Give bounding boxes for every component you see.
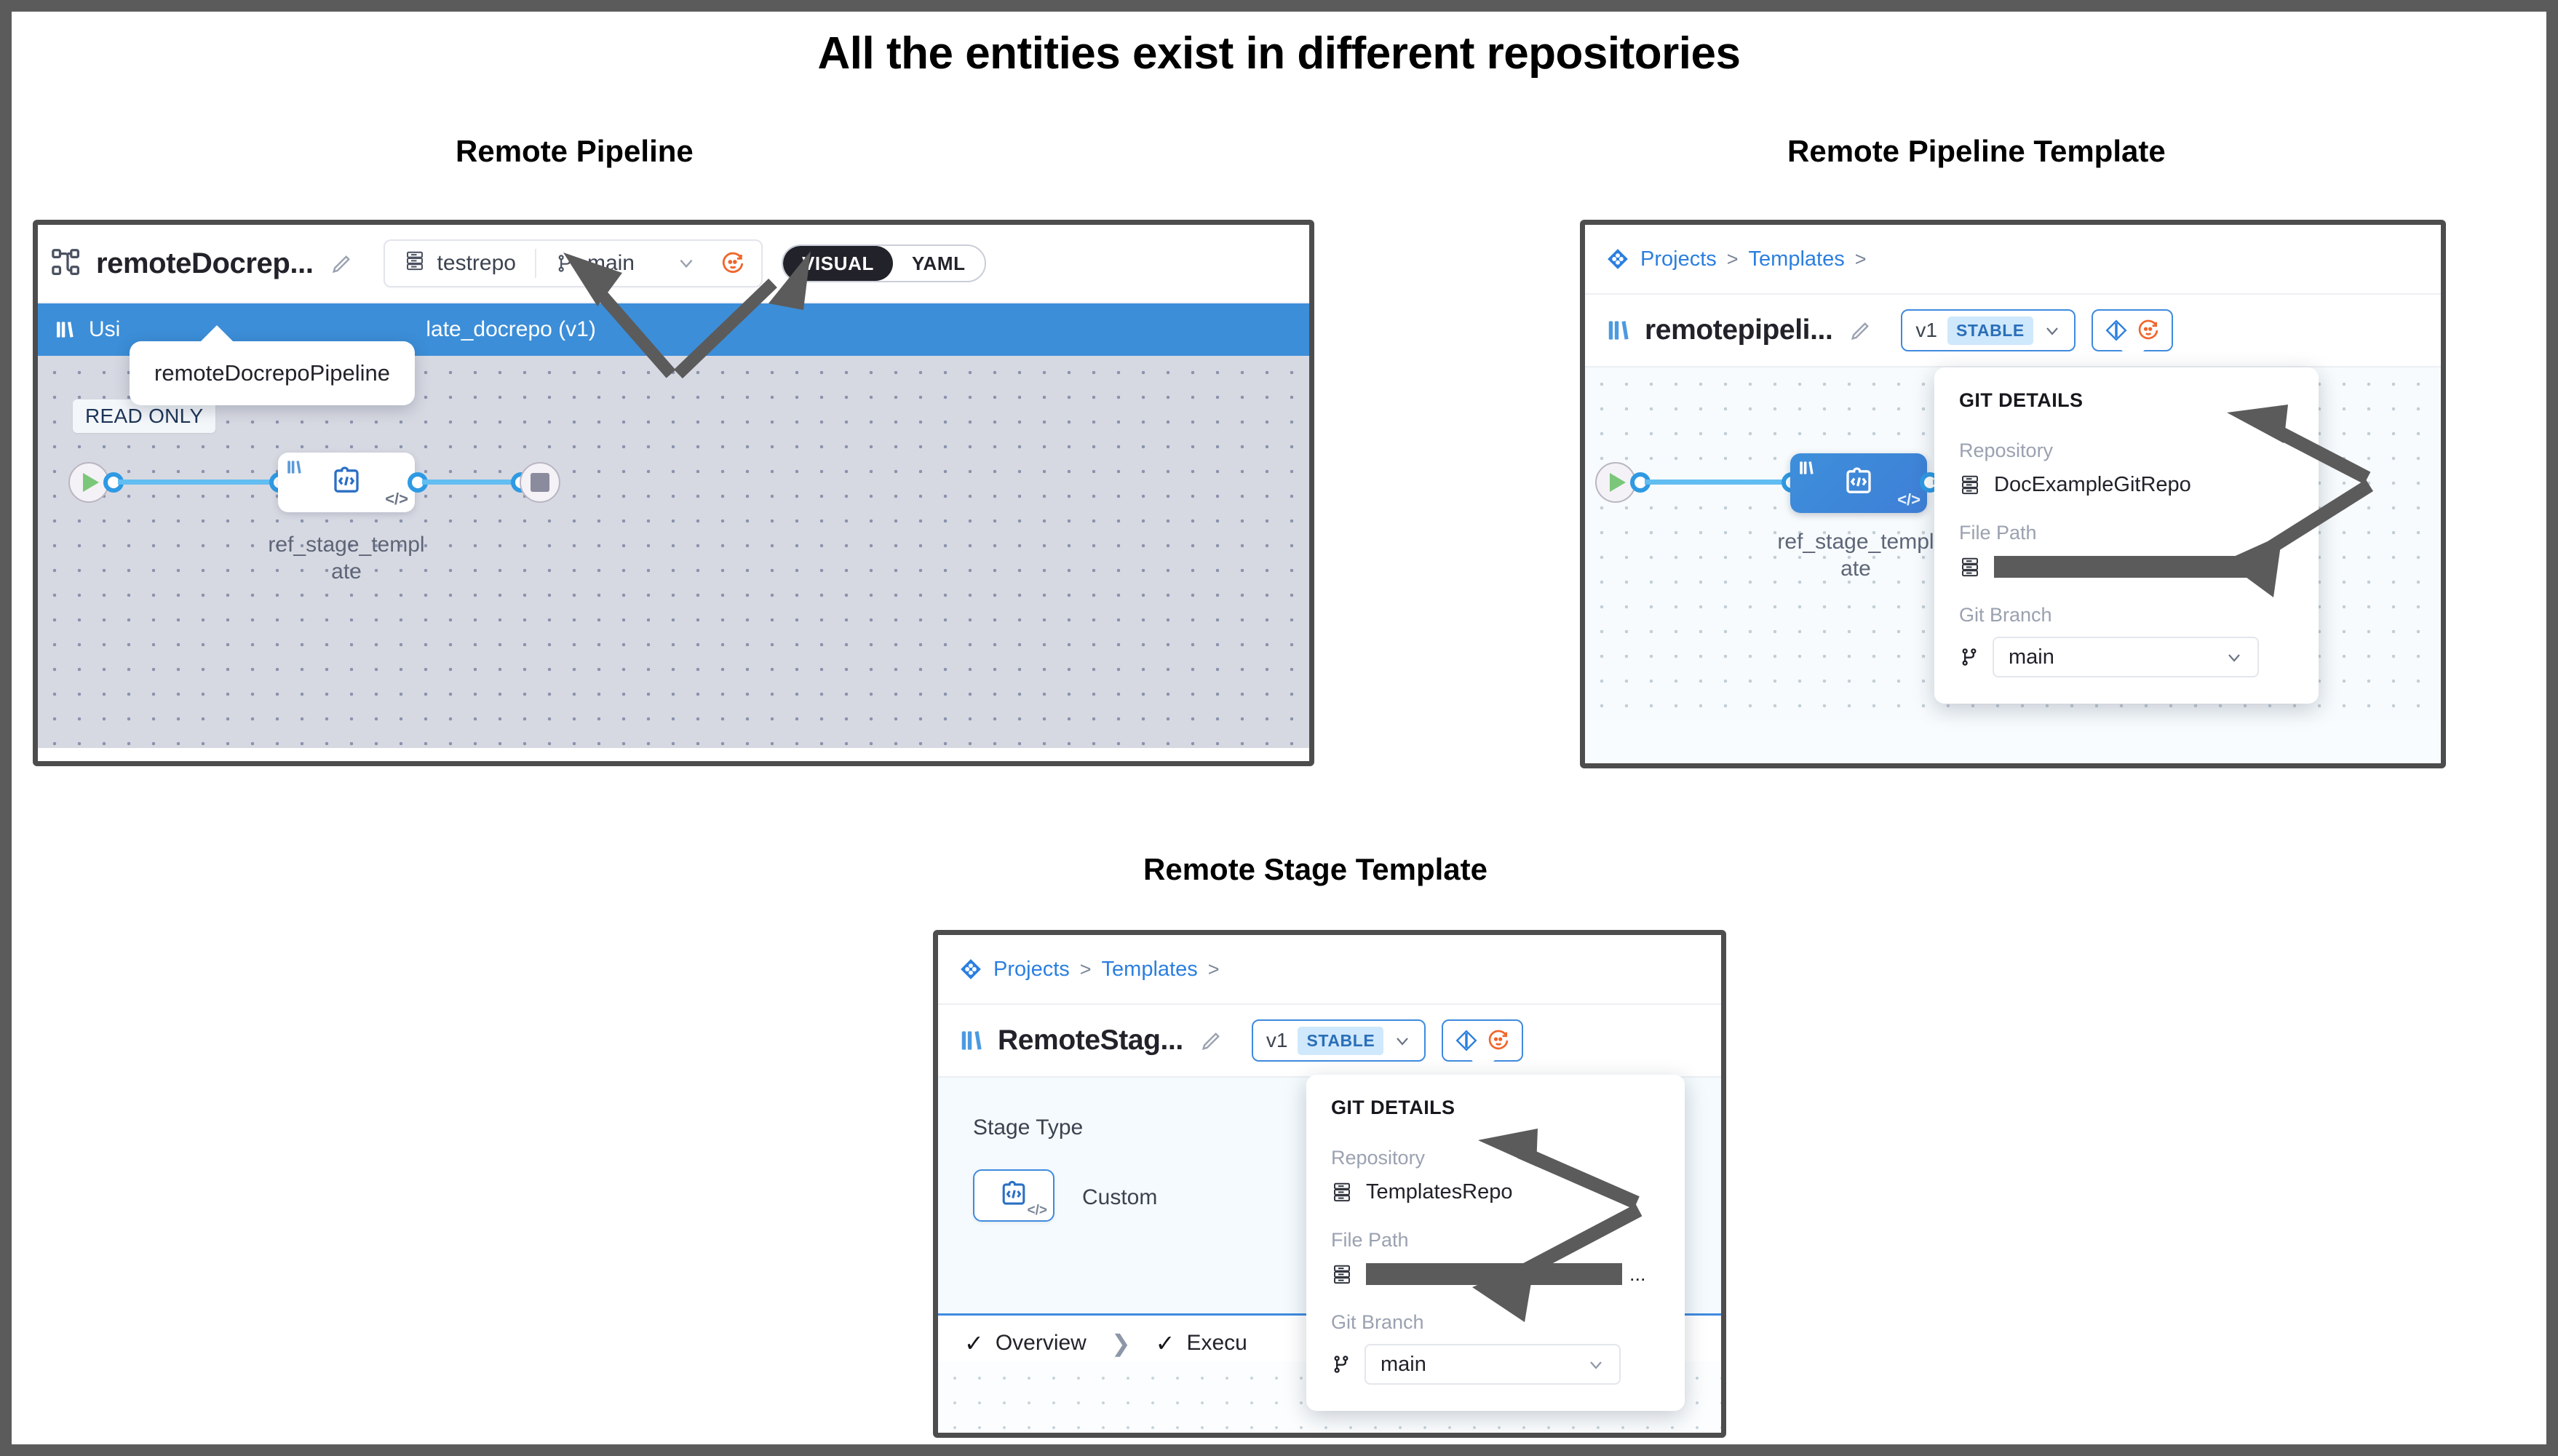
pencil-icon[interactable] xyxy=(1199,1028,1224,1053)
template-header-bar: remotepipeli... v1 STABLE xyxy=(1585,295,2441,367)
git-details-button[interactable] xyxy=(1442,1019,1523,1062)
repository-row: DocExampleGitRepo xyxy=(1959,472,2294,497)
file-path-label: File Path xyxy=(1331,1229,1660,1252)
pencil-icon[interactable] xyxy=(330,251,354,276)
branch-value: main xyxy=(587,251,635,276)
template-library-icon xyxy=(1798,458,1816,477)
version-selector[interactable]: v1 STABLE xyxy=(1252,1019,1426,1062)
breadcrumb: Projects > Templates > xyxy=(938,935,1721,1005)
repository-selector[interactable]: testrepo xyxy=(385,241,535,286)
file-path-redacted-value xyxy=(1994,556,2260,578)
pipeline-header-bar: remoteDocrep... xyxy=(38,225,1309,303)
file-path-label: File Path xyxy=(1959,522,2294,544)
tab-visual[interactable]: VISUAL xyxy=(783,246,893,281)
section-heading-remote-stage-template: Remote Stage Template xyxy=(1143,852,1487,887)
git-branch-icon xyxy=(555,251,576,276)
template-library-icon xyxy=(285,458,304,477)
harness-reload-icon xyxy=(720,251,745,276)
connector-edge xyxy=(1645,480,1789,485)
repository-label: Repository xyxy=(1959,439,2294,462)
repository-icon xyxy=(1959,472,1981,497)
view-mode-toggle[interactable]: VISUAL YAML xyxy=(782,244,986,282)
git-details-heading: GIT DETAILS xyxy=(1331,1097,1660,1119)
template-name: remotepipeli... xyxy=(1645,314,1832,346)
check-icon: ✓ xyxy=(1156,1329,1175,1357)
version-value: v1 xyxy=(1266,1029,1288,1052)
stage-node-label: ref_stage_templ ate xyxy=(266,532,426,585)
banner-text-left: Usi xyxy=(89,317,120,342)
connector-edge xyxy=(422,480,520,485)
git-branch-row: main xyxy=(1959,637,2294,677)
stage-type-custom-option[interactable]: </> xyxy=(973,1169,1054,1222)
tooltip-tail xyxy=(199,325,234,343)
breadcrumb-separator: > xyxy=(1855,248,1867,271)
remote-pipeline-template-panel: Projects > Templates > remotepipeli... xyxy=(1580,220,2446,768)
repository-icon xyxy=(1331,1179,1353,1204)
code-brackets-icon: </> xyxy=(1897,490,1921,509)
play-icon xyxy=(1610,473,1626,492)
code-brackets-icon: </> xyxy=(1028,1203,1047,1219)
stage-label-line1: ref_stage_templ xyxy=(1777,530,1934,554)
projects-icon xyxy=(958,957,983,982)
git-details-popover: GIT DETAILS Repository TemplatesRepo Fil… xyxy=(1306,1075,1685,1411)
tab-overview-label: Overview xyxy=(996,1331,1087,1356)
version-stable-badge: STABLE xyxy=(1298,1027,1383,1055)
pipeline-end-node[interactable] xyxy=(520,462,560,503)
slide-root: All the entities exist in different repo… xyxy=(0,0,2558,1456)
canvas-footer-strip xyxy=(1585,721,2441,763)
file-path-ellipsis: ... xyxy=(1629,1263,1646,1286)
git-branch-select[interactable]: main xyxy=(1365,1344,1621,1385)
page-title: All the entities exist in different repo… xyxy=(12,28,2546,79)
chevron-down-icon[interactable] xyxy=(677,254,696,273)
repository-icon xyxy=(1959,554,1981,579)
stage-label-line1: ref_stage_templ xyxy=(268,533,424,557)
template-name: RemoteStag... xyxy=(998,1025,1183,1057)
git-branch-row: main xyxy=(1331,1344,1660,1385)
breadcrumb-item-templates[interactable]: Templates xyxy=(1102,958,1198,982)
popover-tail xyxy=(2121,350,2145,362)
git-branch-label: Git Branch xyxy=(1959,604,2294,626)
chevron-down-icon[interactable] xyxy=(1587,1356,1605,1373)
git-details-popover: GIT DETAILS Repository DocExampleGitRepo… xyxy=(1934,367,2319,704)
stage-chain: </> ref_stage_templ ate xyxy=(38,356,1309,755)
reload-button[interactable] xyxy=(715,241,761,286)
git-branch-select[interactable]: main xyxy=(1993,637,2259,677)
repository-value: testrepo xyxy=(437,251,516,276)
stage-type-label: Stage Type xyxy=(973,1115,1083,1140)
pipeline-name: remoteDocrep... xyxy=(96,247,314,280)
version-value: v1 xyxy=(1915,319,1937,342)
breadcrumb-item-templates[interactable]: Templates xyxy=(1749,247,1845,271)
stage-node-label: ref_stage_templ ate xyxy=(1776,529,1936,582)
git-diamond-icon[interactable] xyxy=(1455,1029,1478,1052)
pencil-icon[interactable] xyxy=(1848,318,1873,343)
harness-reload-icon[interactable] xyxy=(1487,1029,1510,1052)
tab-yaml[interactable]: YAML xyxy=(893,246,985,281)
pipeline-icon xyxy=(51,247,84,280)
repository-value: TemplatesRepo xyxy=(1366,1180,1513,1204)
connector-edge xyxy=(118,480,277,485)
projects-icon xyxy=(1605,247,1630,271)
custom-stage-icon xyxy=(1840,464,1877,504)
git-diamond-icon[interactable] xyxy=(2105,319,2128,342)
stage-label-line2: ate xyxy=(1840,557,1871,581)
version-selector[interactable]: v1 STABLE xyxy=(1901,309,2075,351)
git-details-button[interactable] xyxy=(2092,309,2173,351)
canvas-footer-strip xyxy=(38,748,1309,761)
section-heading-remote-pipeline-template: Remote Pipeline Template xyxy=(1787,134,2166,169)
breadcrumb-item-projects[interactable]: Projects xyxy=(1640,247,1717,271)
tab-execution-label: Execu xyxy=(1186,1331,1247,1356)
stage-label-line2: ate xyxy=(331,560,362,584)
tooltip-text: remoteDocrepoPipeline xyxy=(154,360,390,386)
git-branch-label: Git Branch xyxy=(1331,1311,1660,1334)
stage-node-ref-stage-template[interactable]: </> xyxy=(1790,453,1927,513)
custom-stage-icon xyxy=(997,1177,1030,1214)
popover-tail xyxy=(1471,1060,1495,1072)
breadcrumb: Projects > Templates > xyxy=(1585,225,2441,295)
git-branch-value: main xyxy=(2009,645,2054,669)
breadcrumb-separator: > xyxy=(1080,958,1092,981)
remote-pipeline-panel: remoteDocrep... xyxy=(33,220,1314,766)
stage-node-ref-stage-template[interactable]: </> xyxy=(278,453,415,512)
chevron-down-icon[interactable] xyxy=(2043,322,2061,339)
template-header-bar: RemoteStag... v1 STABLE xyxy=(938,1005,1721,1078)
breadcrumb-separator: > xyxy=(1727,248,1739,271)
repository-icon xyxy=(404,248,426,279)
code-brackets-icon: </> xyxy=(385,490,408,509)
template-library-icon xyxy=(54,318,77,341)
template-library-icon xyxy=(1605,317,1633,344)
remote-stage-template-panel: Projects > Templates > RemoteStag... xyxy=(933,930,1726,1438)
file-path-row xyxy=(1959,554,2294,579)
git-branch-icon xyxy=(1959,645,1979,669)
file-path-row: ... xyxy=(1331,1262,1660,1286)
template-library-icon xyxy=(958,1027,986,1054)
pipeline-name-tooltip: remoteDocrepoPipeline xyxy=(130,341,415,405)
stage-type-value: Custom xyxy=(1082,1185,1157,1210)
check-icon: ✓ xyxy=(964,1329,984,1357)
repository-row: TemplatesRepo xyxy=(1331,1179,1660,1204)
repo-branch-selector: testrepo main xyxy=(384,239,763,287)
play-icon xyxy=(83,473,99,492)
git-details-heading: GIT DETAILS xyxy=(1959,389,2294,412)
stop-icon xyxy=(531,473,549,492)
git-branch-value: main xyxy=(1381,1353,1426,1377)
custom-stage-icon xyxy=(328,463,365,503)
chevron-right-icon: ❯ xyxy=(1111,1329,1131,1357)
banner-text-right: late_docrepo (v1) xyxy=(426,317,595,342)
chevron-down-icon[interactable] xyxy=(2225,648,2243,666)
version-stable-badge: STABLE xyxy=(1947,317,2033,345)
repository-icon xyxy=(1331,1262,1353,1286)
pipeline-canvas[interactable]: READ ONLY xyxy=(38,356,1309,755)
file-path-redacted-value xyxy=(1366,1263,1622,1285)
repository-label: Repository xyxy=(1331,1147,1660,1169)
section-heading-remote-pipeline: Remote Pipeline xyxy=(456,134,694,169)
repository-value: DocExampleGitRepo xyxy=(1994,473,2191,497)
branch-selector[interactable]: main xyxy=(536,241,715,286)
breadcrumb-separator: > xyxy=(1208,958,1220,981)
chevron-down-icon[interactable] xyxy=(1394,1032,1411,1049)
harness-reload-icon[interactable] xyxy=(2137,319,2160,342)
git-branch-icon xyxy=(1331,1352,1351,1377)
breadcrumb-item-projects[interactable]: Projects xyxy=(993,958,1070,982)
